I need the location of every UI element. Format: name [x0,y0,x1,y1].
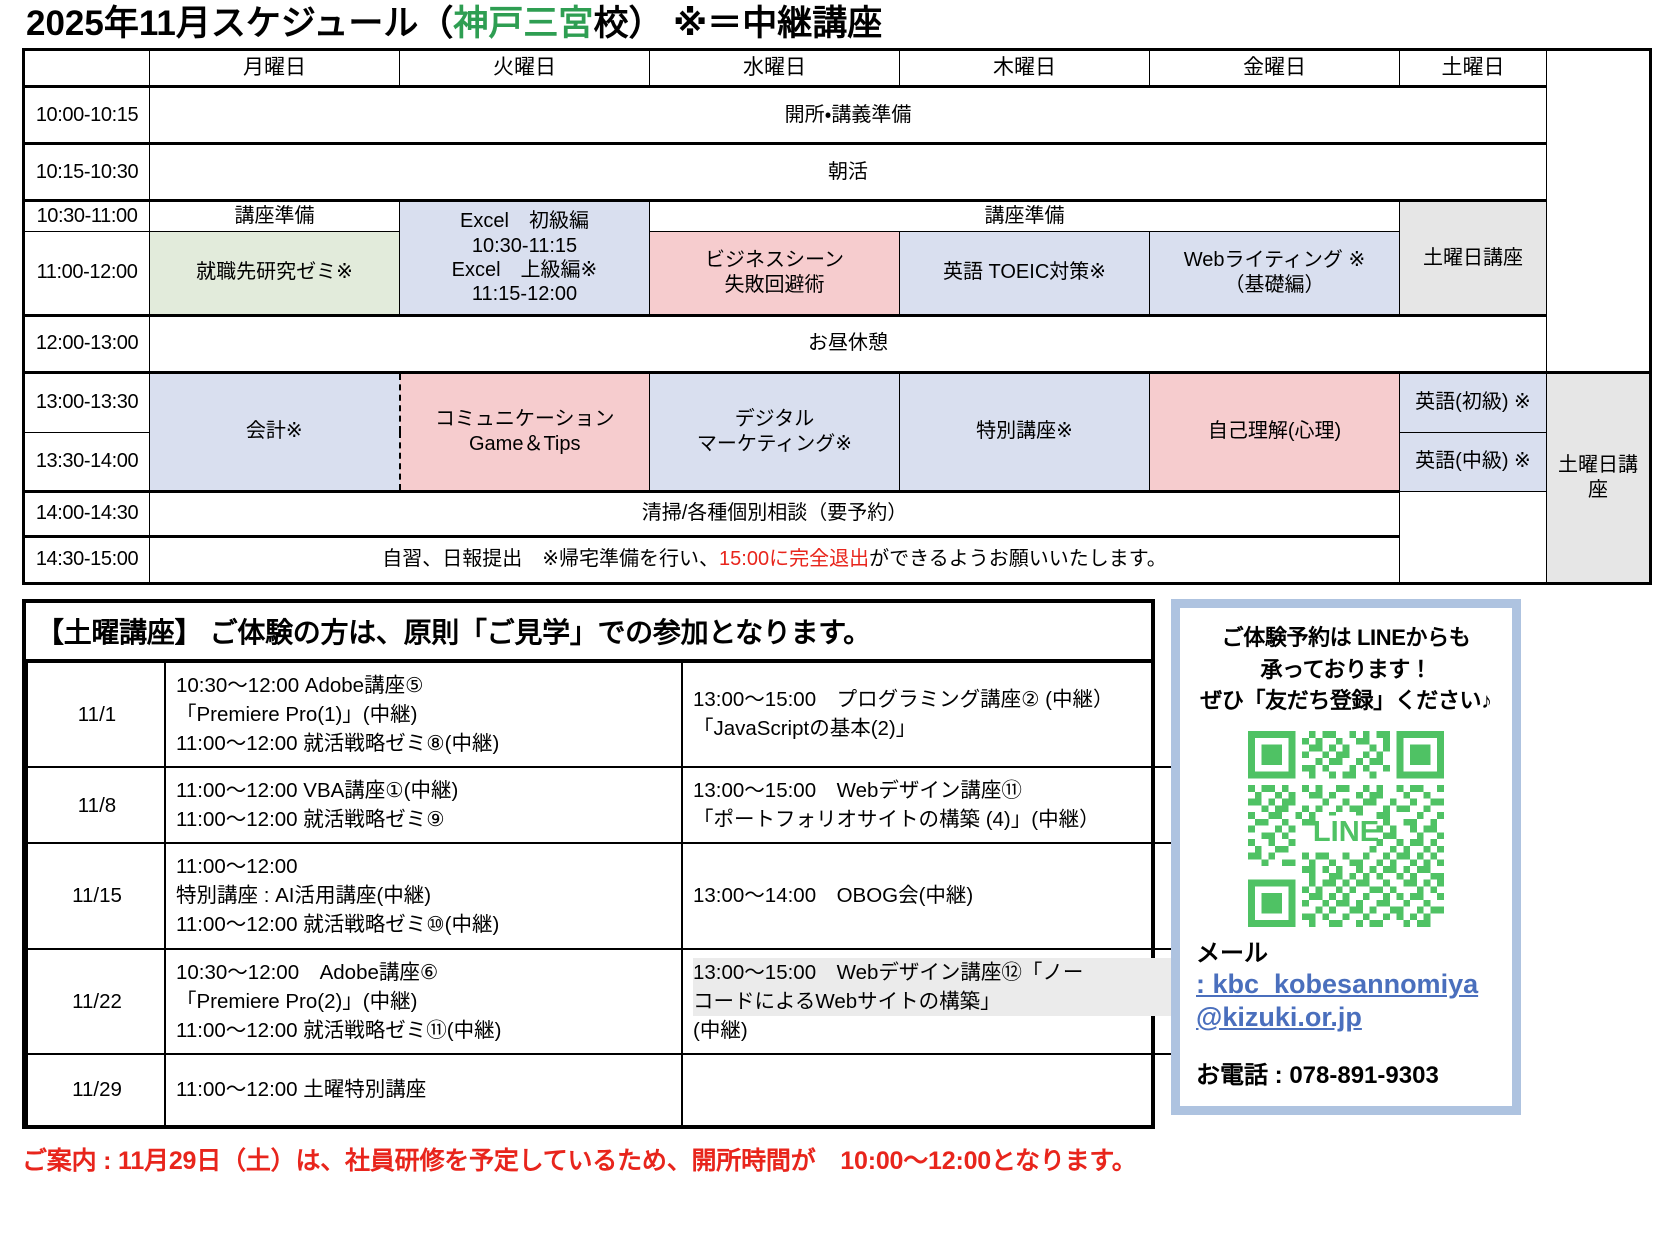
line-panel-heading: ご体験予約は LINEからも 承っております！ ぜひ「友だち登録」ください♪ [1192,622,1500,718]
table-row: 14:30-15:00 自習、日報提出 ※帰宅準備を行い、15:00に完全退出が… [24,536,1651,583]
saturday-date-2: 11/8 [27,767,165,843]
course-line: 11:00〜12:00 就活戦略ゼミ⑧(中継) [176,729,673,758]
header-tuesday: 火曜日 [400,50,650,87]
line-heading-line1: ご体験予約は LINEからも [1192,622,1500,654]
table-row: 14:00-14:30 清掃/各種個別相談（要予約） [24,491,1651,536]
header-wednesday: 水曜日 [650,50,900,87]
saturday-morning-1: 10:30〜12:00 Adobe講座⑤ 「Premiere Pro(1)」(中… [165,663,682,767]
cell-mon-communication: コミュニケーション Game＆Tips [400,372,650,491]
cell-tue-digital-marketing: デジタル マーケティング※ [650,372,900,491]
course-line: 11:00〜12:00 就活戦略ゼミ⑩(中継) [176,910,673,939]
cell-wed-business-scene: ビジネスシーン 失敗回避術 [650,231,900,315]
page-title-school: 神戸三宮 [453,4,593,43]
time-label-9: 14:30-15:00 [24,536,150,583]
excel-advanced-time: 11:15-12:00 [403,282,646,306]
course-line: (中継) [693,1016,1190,1045]
saturday-date-5: 11/29 [27,1054,165,1125]
course-line: 13:00〜14:00 OBOG会(中継) [693,881,1190,910]
excel-beginner-title: Excel 初級編 [403,209,646,233]
course-line: 10:30〜12:00 Adobe講座⑤ [176,671,673,700]
saturday-panel-heading: 【土曜講座】 ご体験の方は、原則「ご見学」での参加となります。 [26,603,1151,663]
weekly-schedule-table: 月曜日 火曜日 水曜日 木曜日 金曜日 土曜日 10:00-10:15 開所・講… [22,48,1652,584]
course-line: 13:00〜15:00 Webデザイン講座⑪ [693,776,1190,805]
self-study-text-part1: 自習、日報提出 ※帰宅準備を行い、 [382,548,719,570]
business-scene-line2: 失敗回避術 [653,273,896,297]
course-line: 「ポートフォリオサイトの構築 (4)」(中継） [693,805,1190,834]
table-row: 10:15-10:30 朝活 [24,144,1651,201]
cell-mon-1030: 講座準備 [150,201,400,231]
cell-wed-fri-1030: 講座準備 [650,201,1400,231]
table-row: 11/8 11:00〜12:00 VBA講座①(中継) 11:00〜12:00 … [27,767,1198,843]
header-thursday: 木曜日 [900,50,1150,87]
cell-wed-special-course: 特別講座※ [900,372,1150,491]
course-line: 10:30〜12:00 Adobe講座⑥ [176,958,673,987]
self-study-text-part2: ができるようお願いいたします。 [869,548,1167,570]
qr-line-wordmark: LINE [1313,816,1379,848]
header-monday: 月曜日 [150,50,400,87]
telephone-number: お電話 : 078-891-9303 [1196,1055,1500,1090]
cell-fri-english-intermediate: 英語(中級) ※ [1400,432,1547,491]
course-line: 13:00〜15:00 Webデザイン講座⑫「ノー [693,958,1190,987]
time-label-8: 14:00-14:30 [24,491,150,536]
course-line: 11:00〜12:00 土曜特別講座 [176,1075,673,1104]
saturday-morning-2: 11:00〜12:00 VBA講座①(中継) 11:00〜12:00 就活戦略ゼ… [165,767,682,843]
saturday-morning-3: 11:00〜12:00 特別講座 : AI活用講座(中継) 11:00〜12:0… [165,843,682,948]
lower-section: 【土曜講座】 ご体験の方は、原則「ご見学」での参加となります。 11/1 10:… [0,585,1674,1129]
time-label-7: 13:30-14:00 [24,432,150,491]
header-blank [24,50,150,87]
digital-marketing-line2: マーケティング※ [653,432,896,456]
line-contact-panel: ご体験予約は LINEからも 承っております！ ぜひ「友だち登録」ください♪ [1171,599,1521,1115]
cell-morning-activity: 朝活 [150,144,1547,201]
bottom-notice: ご案内 : 11月29日（土）は、社員研修を予定しているため、開所時間が 10:… [0,1129,1674,1177]
header-saturday: 土曜日 [1400,50,1547,87]
saturday-afternoon-5 [682,1054,1198,1125]
page-title-prefix: 2025年11月スケジュール（ [26,4,453,43]
time-label-4: 11:00-12:00 [24,231,150,315]
table-row: 13:00-13:30 会計※ コミュニケーション Game＆Tips デジタル… [24,372,1651,432]
line-heading-line3: ぜひ「友だち登録」ください♪ [1192,685,1500,717]
course-line: 11:00〜12:00 [176,852,673,881]
qr-code-icon: LINE [1248,731,1444,927]
excel-advanced-title: Excel 上級編※ [403,258,646,282]
table-row: 12:00-13:00 お昼休憩 [24,315,1651,372]
time-label-1: 10:00-10:15 [24,87,150,144]
excel-beginner-time: 10:30-11:15 [403,234,646,258]
cell-tue-excel: Excel 初級編 10:30-11:15 Excel 上級編※ 11:15-1… [400,201,650,315]
saturday-afternoon-3: 13:00〜14:00 OBOG会(中継) [682,843,1198,948]
communication-line2: Game＆Tips [404,432,647,456]
saturday-morning-4: 10:30〜12:00 Adobe講座⑥ 「Premiere Pro(2)」(中… [165,949,682,1054]
course-line: 特別講座 : AI活用講座(中継) [176,881,673,910]
time-label-5: 12:00-13:00 [24,315,150,372]
business-scene-line1: ビジネスシーン [653,248,896,272]
course-line: 「Premiere Pro(2)」(中継) [176,987,673,1016]
course-line: 13:00〜15:00 プログラミング講座② (中継） [693,685,1190,714]
cell-mon-job-research: 就職先研究ゼミ※ [150,231,400,315]
table-row: 10:30-11:00 講座準備 Excel 初級編 10:30-11:15 E… [24,201,1651,231]
cell-mon-accounting: 会計※ [150,372,400,491]
cell-self-study-notice: 自習、日報提出 ※帰宅準備を行い、15:00に完全退出ができるようお願いいたしま… [150,536,1400,583]
cell-sat-course-pm: 土曜日講座 [1547,372,1651,583]
course-line: 11:00〜12:00 VBA講座①(中継) [176,776,673,805]
page-title: 2025年11月スケジュール（神戸三宮校） ※＝中継講座 [0,0,1674,48]
digital-marketing-line1: デジタル [653,407,896,431]
course-line: 11:00〜12:00 就活戦略ゼミ⑪(中継) [176,1016,673,1045]
saturday-afternoon-1: 13:00〜15:00 プログラミング講座② (中継） 「JavaScriptの… [682,663,1198,767]
saturday-date-3: 11/15 [27,843,165,948]
cell-lunch-break: お昼休憩 [150,315,1547,372]
time-label-2: 10:15-10:30 [24,144,150,201]
cell-sat-course-am: 土曜日講座 [1400,201,1547,315]
saturday-date-4: 11/22 [27,949,165,1054]
saturday-courses-panel: 【土曜講座】 ご体験の方は、原則「ご見学」での参加となります。 11/1 10:… [22,599,1155,1129]
cell-fri-webwriting: Webライティング ※ （基礎編） [1150,231,1400,315]
page-title-suffix: 校） ※＝中継講座 [593,4,882,43]
cell-cleaning-consultation: 清掃/各種個別相談（要予約） [150,491,1400,536]
mail-label: メール [1196,933,1500,968]
cell-open-prep: 開所・講義準備 [150,87,1547,144]
saturday-afternoon-2: 13:00〜15:00 Webデザイン講座⑪ 「ポートフォリオサイトの構築 (4… [682,767,1198,843]
saturday-courses-table: 11/1 10:30〜12:00 Adobe講座⑤ 「Premiere Pro(… [26,663,1198,1125]
line-qr-code[interactable]: LINE [1248,731,1444,927]
line-heading-line2: 承っております！ [1192,654,1500,686]
course-line: 11:00〜12:00 就活戦略ゼミ⑨ [176,805,673,834]
table-row: 11/22 10:30〜12:00 Adobe講座⑥ 「Premiere Pro… [27,949,1198,1054]
course-line: 「JavaScriptの基本(2)」 [693,714,1190,743]
cell-thu-toeic: 英語 TOEIC対策※ [900,231,1150,315]
table-row: 11/1 10:30〜12:00 Adobe講座⑤ 「Premiere Pro(… [27,663,1198,767]
time-label-3: 10:30-11:00 [24,201,150,231]
cell-fri-english-beginner: 英語(初級) ※ [1400,372,1547,432]
table-header-row: 月曜日 火曜日 水曜日 木曜日 金曜日 土曜日 [24,50,1651,87]
webwriting-line2: （基礎編） [1153,273,1396,297]
saturday-afternoon-4: 13:00〜15:00 Webデザイン講座⑫「ノー コードによるWebサイトの構… [682,949,1198,1054]
table-row: 10:00-10:15 開所・講義準備 [24,87,1651,144]
webwriting-line1: Webライティング ※ [1153,248,1396,272]
table-row: 11/15 11:00〜12:00 特別講座 : AI活用講座(中継) 11:0… [27,843,1198,948]
time-label-6: 13:00-13:30 [24,372,150,432]
contact-info: メール : kbc_kobesannomiya@kizuki.or.jp お電話… [1192,933,1500,1090]
mail-address-link[interactable]: : kbc_kobesannomiya@kizuki.or.jp [1196,968,1500,1033]
header-friday: 金曜日 [1150,50,1400,87]
saturday-morning-5: 11:00〜12:00 土曜特別講座 [165,1054,682,1125]
course-line: コードによるWebサイトの構築」 [693,987,1190,1016]
table-row: 11/29 11:00〜12:00 土曜特別講座 [27,1054,1198,1125]
course-line: 「Premiere Pro(1)」(中継) [176,700,673,729]
weekly-schedule-section: 月曜日 火曜日 水曜日 木曜日 金曜日 土曜日 10:00-10:15 開所・講… [0,48,1674,584]
self-study-text-red: 15:00に完全退出 [719,548,869,570]
cell-thu-self-understanding: 自己理解(心理) [1150,372,1400,491]
saturday-date-1: 11/1 [27,663,165,767]
communication-line1: コミュニケーション [404,407,647,431]
